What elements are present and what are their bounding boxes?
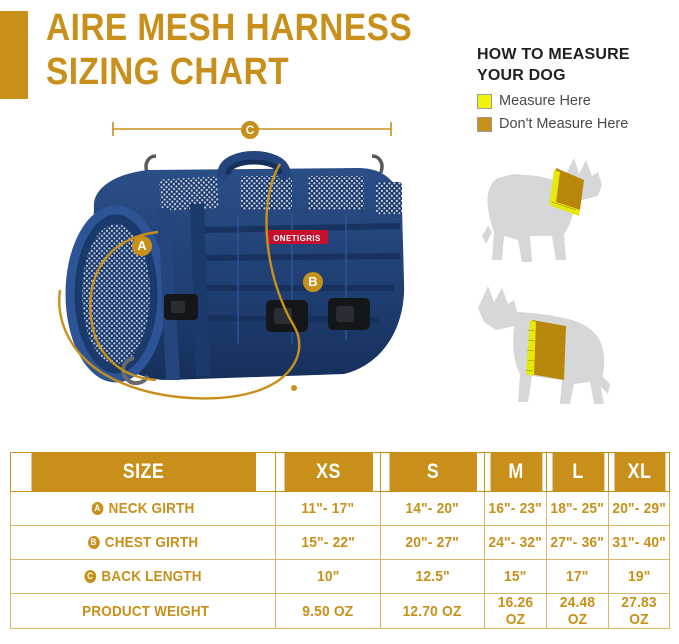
cell-weight-xl: 27.83 OZ xyxy=(609,594,670,629)
legend-swatch-yellow xyxy=(477,94,492,109)
dog-neck-girth-illustration xyxy=(478,152,618,277)
marker-badge-c: C xyxy=(241,121,259,139)
page-title: AIRE MESH HARNESS SIZING CHART xyxy=(46,6,416,94)
row-label-neck-girth: A NECK GIRTH xyxy=(11,492,276,526)
cell-neck-s: 14"- 20" xyxy=(381,492,485,526)
cell-chest-s: 20"- 27" xyxy=(381,526,485,560)
table-header-xs: XS xyxy=(283,453,372,492)
cell-back-l: 17" xyxy=(547,560,609,594)
cell-chest-l: 27"- 36" xyxy=(547,526,609,560)
cell-neck-m: 16"- 23" xyxy=(485,492,547,526)
title-accent-bar xyxy=(0,11,28,99)
legend-label-dont-measure-here: Don't Measure Here xyxy=(499,117,628,132)
legend-item-measure-here: Measure Here xyxy=(477,94,677,109)
row-label-text: CHEST GIRTH xyxy=(105,534,198,551)
row-label-chest-girth: B CHEST GIRTH xyxy=(11,526,276,560)
table-row: C BACK LENGTH 10" 12.5" 15" 17" 19" xyxy=(11,560,670,594)
svg-text:ONETIGRIS: ONETIGRIS xyxy=(273,234,321,243)
legend-label-measure-here: Measure Here xyxy=(499,94,591,109)
cell-back-xl: 19" xyxy=(609,560,670,594)
dog-measurement-illustrations xyxy=(470,152,670,420)
row-label-text: NECK GIRTH xyxy=(109,500,195,517)
table-row: PRODUCT WEIGHT 9.50 OZ 12.70 OZ 16.26 OZ… xyxy=(11,594,670,629)
brand-patch: ONETIGRIS xyxy=(266,230,328,244)
cell-neck-xs: 11"- 17" xyxy=(276,492,381,526)
cell-weight-s: 12.70 OZ xyxy=(381,594,485,629)
marker-badge-b: B xyxy=(303,272,323,292)
marker-badge-a: A xyxy=(132,236,152,256)
cell-weight-m: 16.26 OZ xyxy=(485,594,547,629)
adjuster-buckle xyxy=(164,294,198,320)
table-header-s: S xyxy=(388,453,476,492)
row-label-text: BACK LENGTH xyxy=(101,568,201,585)
cell-chest-m: 24"- 32" xyxy=(485,526,547,560)
how-to-measure-panel: HOW TO MEASURE YOUR DOG Measure Here Don… xyxy=(477,44,677,132)
cell-back-m: 15" xyxy=(485,560,547,594)
table-header-size: SIZE xyxy=(30,453,255,492)
side-release-buckle-1 xyxy=(266,300,308,332)
row-badge-b: B xyxy=(88,536,100,549)
cell-weight-l: 24.48 OZ xyxy=(547,594,609,629)
row-label-product-weight: PRODUCT WEIGHT xyxy=(11,594,276,629)
dog-chest-girth-illustration xyxy=(470,282,630,412)
table-header-xl: XL xyxy=(613,453,665,492)
legend-swatch-gold xyxy=(477,117,492,132)
legend-item-dont-measure-here: Don't Measure Here xyxy=(477,117,677,132)
cell-neck-xl: 20"- 29" xyxy=(609,492,670,526)
side-release-buckle-2 xyxy=(328,298,370,330)
cell-chest-xl: 31"- 40" xyxy=(609,526,670,560)
table-header-row: SIZE XS S M L XL xyxy=(11,453,670,492)
table-header-m: M xyxy=(489,453,542,492)
harness-product-illustration: ONETIGRIS xyxy=(8,112,448,432)
row-badge-c: C xyxy=(84,570,96,583)
cell-chest-xs: 15"- 22" xyxy=(276,526,381,560)
how-to-measure-heading: HOW TO MEASURE YOUR DOG xyxy=(477,44,677,86)
table-header-l: L xyxy=(551,453,604,492)
table-row: B CHEST GIRTH 15"- 22" 20"- 27" 24"- 32"… xyxy=(11,526,670,560)
cell-weight-xs: 9.50 OZ xyxy=(276,594,381,629)
sizing-chart-table: SIZE XS S M L XL A NECK GIRTH 11"- 17" 1… xyxy=(10,452,670,629)
row-label-back-length: C BACK LENGTH xyxy=(11,560,276,594)
cell-back-xs: 10" xyxy=(276,560,381,594)
row-badge-a: A xyxy=(92,502,104,515)
table-row: A NECK GIRTH 11"- 17" 14"- 20" 16"- 23" … xyxy=(11,492,670,526)
cell-back-s: 12.5" xyxy=(381,560,485,594)
row-label-text: PRODUCT WEIGHT xyxy=(82,603,209,620)
cell-neck-l: 18"- 25" xyxy=(547,492,609,526)
